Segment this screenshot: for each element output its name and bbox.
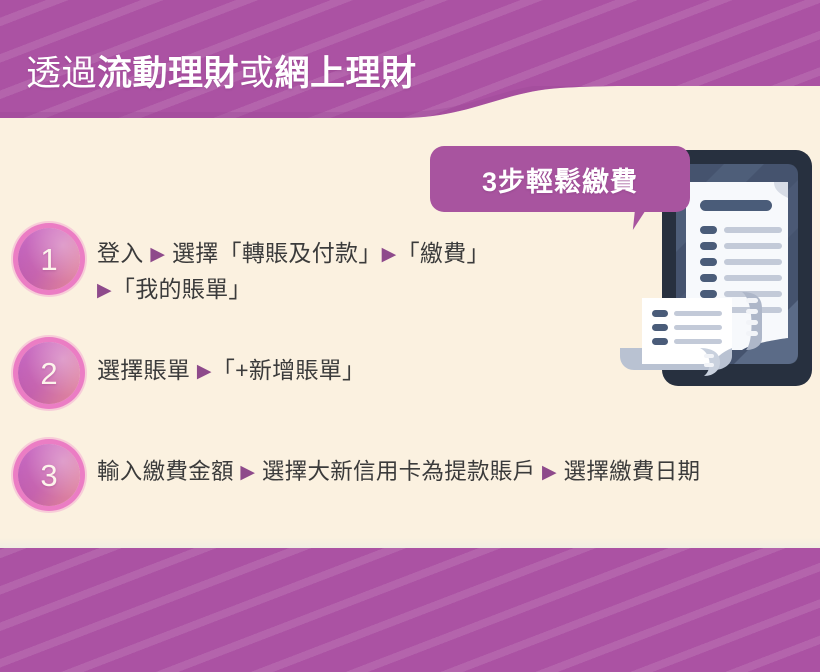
arrow-icon: ▶ <box>382 244 397 265</box>
arrow-icon: ▶ <box>240 462 255 483</box>
step-1-text-b: 選擇「轉賬及付款」 <box>172 240 382 266</box>
steps-list: 1 登入 ▶ 選擇「轉賬及付款」▶「繳費」 ▶「我的賬單」 2 選擇賬單 <box>0 228 820 506</box>
step-2-line-1: 選擇賬單 ▶「+新增賬單」 <box>97 351 365 391</box>
step-2-text-b: 「+新增賬單」 <box>212 357 366 383</box>
title-part-3: 或 <box>239 54 275 93</box>
step-item-1: 1 登入 ▶ 選擇「轉賬及付款」▶「繳費」 ▶「我的賬單」 <box>0 228 820 310</box>
title-part-2: 流動理財 <box>97 54 239 93</box>
arrow-icon: ▶ <box>197 361 212 382</box>
badge-tail-icon <box>633 208 659 230</box>
step-1-text-d: 「我的賬單」 <box>112 276 252 302</box>
step-number-badge-1: 1 <box>18 228 80 290</box>
step-text-3: 輸入繳費金額 ▶ 選擇大新信用卡為提款賬戶 ▶ 選擇繳費日期 <box>97 444 700 492</box>
step-number-label-3: 3 <box>40 460 57 491</box>
step-number-label-1: 1 <box>40 244 57 275</box>
badge-label: 3步輕鬆繳費 <box>482 160 638 199</box>
step-1-line-2: ▶「我的賬單」 <box>97 270 490 310</box>
step-2-text-a: 選擇賬單 <box>97 357 190 383</box>
title-part-4: 網上理財 <box>275 54 417 93</box>
step-3-text-b: 選擇大新信用卡為提款賬戶 <box>262 459 536 484</box>
page-title: 透過流動理財或網上理財 <box>26 52 417 96</box>
footer-fade <box>0 538 820 548</box>
arrow-icon: ▶ <box>542 462 557 483</box>
poster-stage: 透過流動理財或網上理財 <box>0 0 820 672</box>
footer-band <box>0 548 820 672</box>
step-item-2: 2 選擇賬單 ▶「+新增賬單」 <box>0 342 820 404</box>
step-3-line-1: 輸入繳費金額 ▶ 選擇大新信用卡為提款賬戶 ▶ 選擇繳費日期 <box>97 453 700 492</box>
step-text-1: 登入 ▶ 選擇「轉賬及付款」▶「繳費」 ▶「我的賬單」 <box>97 228 490 310</box>
step-text-2: 選擇賬單 ▶「+新增賬單」 <box>97 342 365 391</box>
step-1-line-1: 登入 ▶ 選擇「轉賬及付款」▶「繳費」 <box>97 234 490 274</box>
step-3-text-a: 輸入繳費金額 <box>97 459 234 484</box>
three-steps-badge: 3步輕鬆繳費 <box>430 146 690 212</box>
step-1-text-c: 「繳費」 <box>397 240 490 266</box>
arrow-icon: ▶ <box>97 280 112 301</box>
step-number-badge-3: 3 <box>18 444 80 506</box>
step-number-badge-2: 2 <box>18 342 80 404</box>
step-3-text-c: 選擇繳費日期 <box>564 459 701 484</box>
invoice-title-bar <box>700 200 772 211</box>
title-part-1: 透過 <box>26 54 97 93</box>
step-1-text-a: 登入 <box>97 240 144 266</box>
arrow-icon: ▶ <box>150 244 165 265</box>
step-number-label-2: 2 <box>40 358 57 389</box>
badge-container: 3步輕鬆繳費 <box>430 146 692 230</box>
step-item-3: 3 輸入繳費金額 ▶ 選擇大新信用卡為提款賬戶 ▶ 選擇繳費日期 <box>0 444 820 506</box>
